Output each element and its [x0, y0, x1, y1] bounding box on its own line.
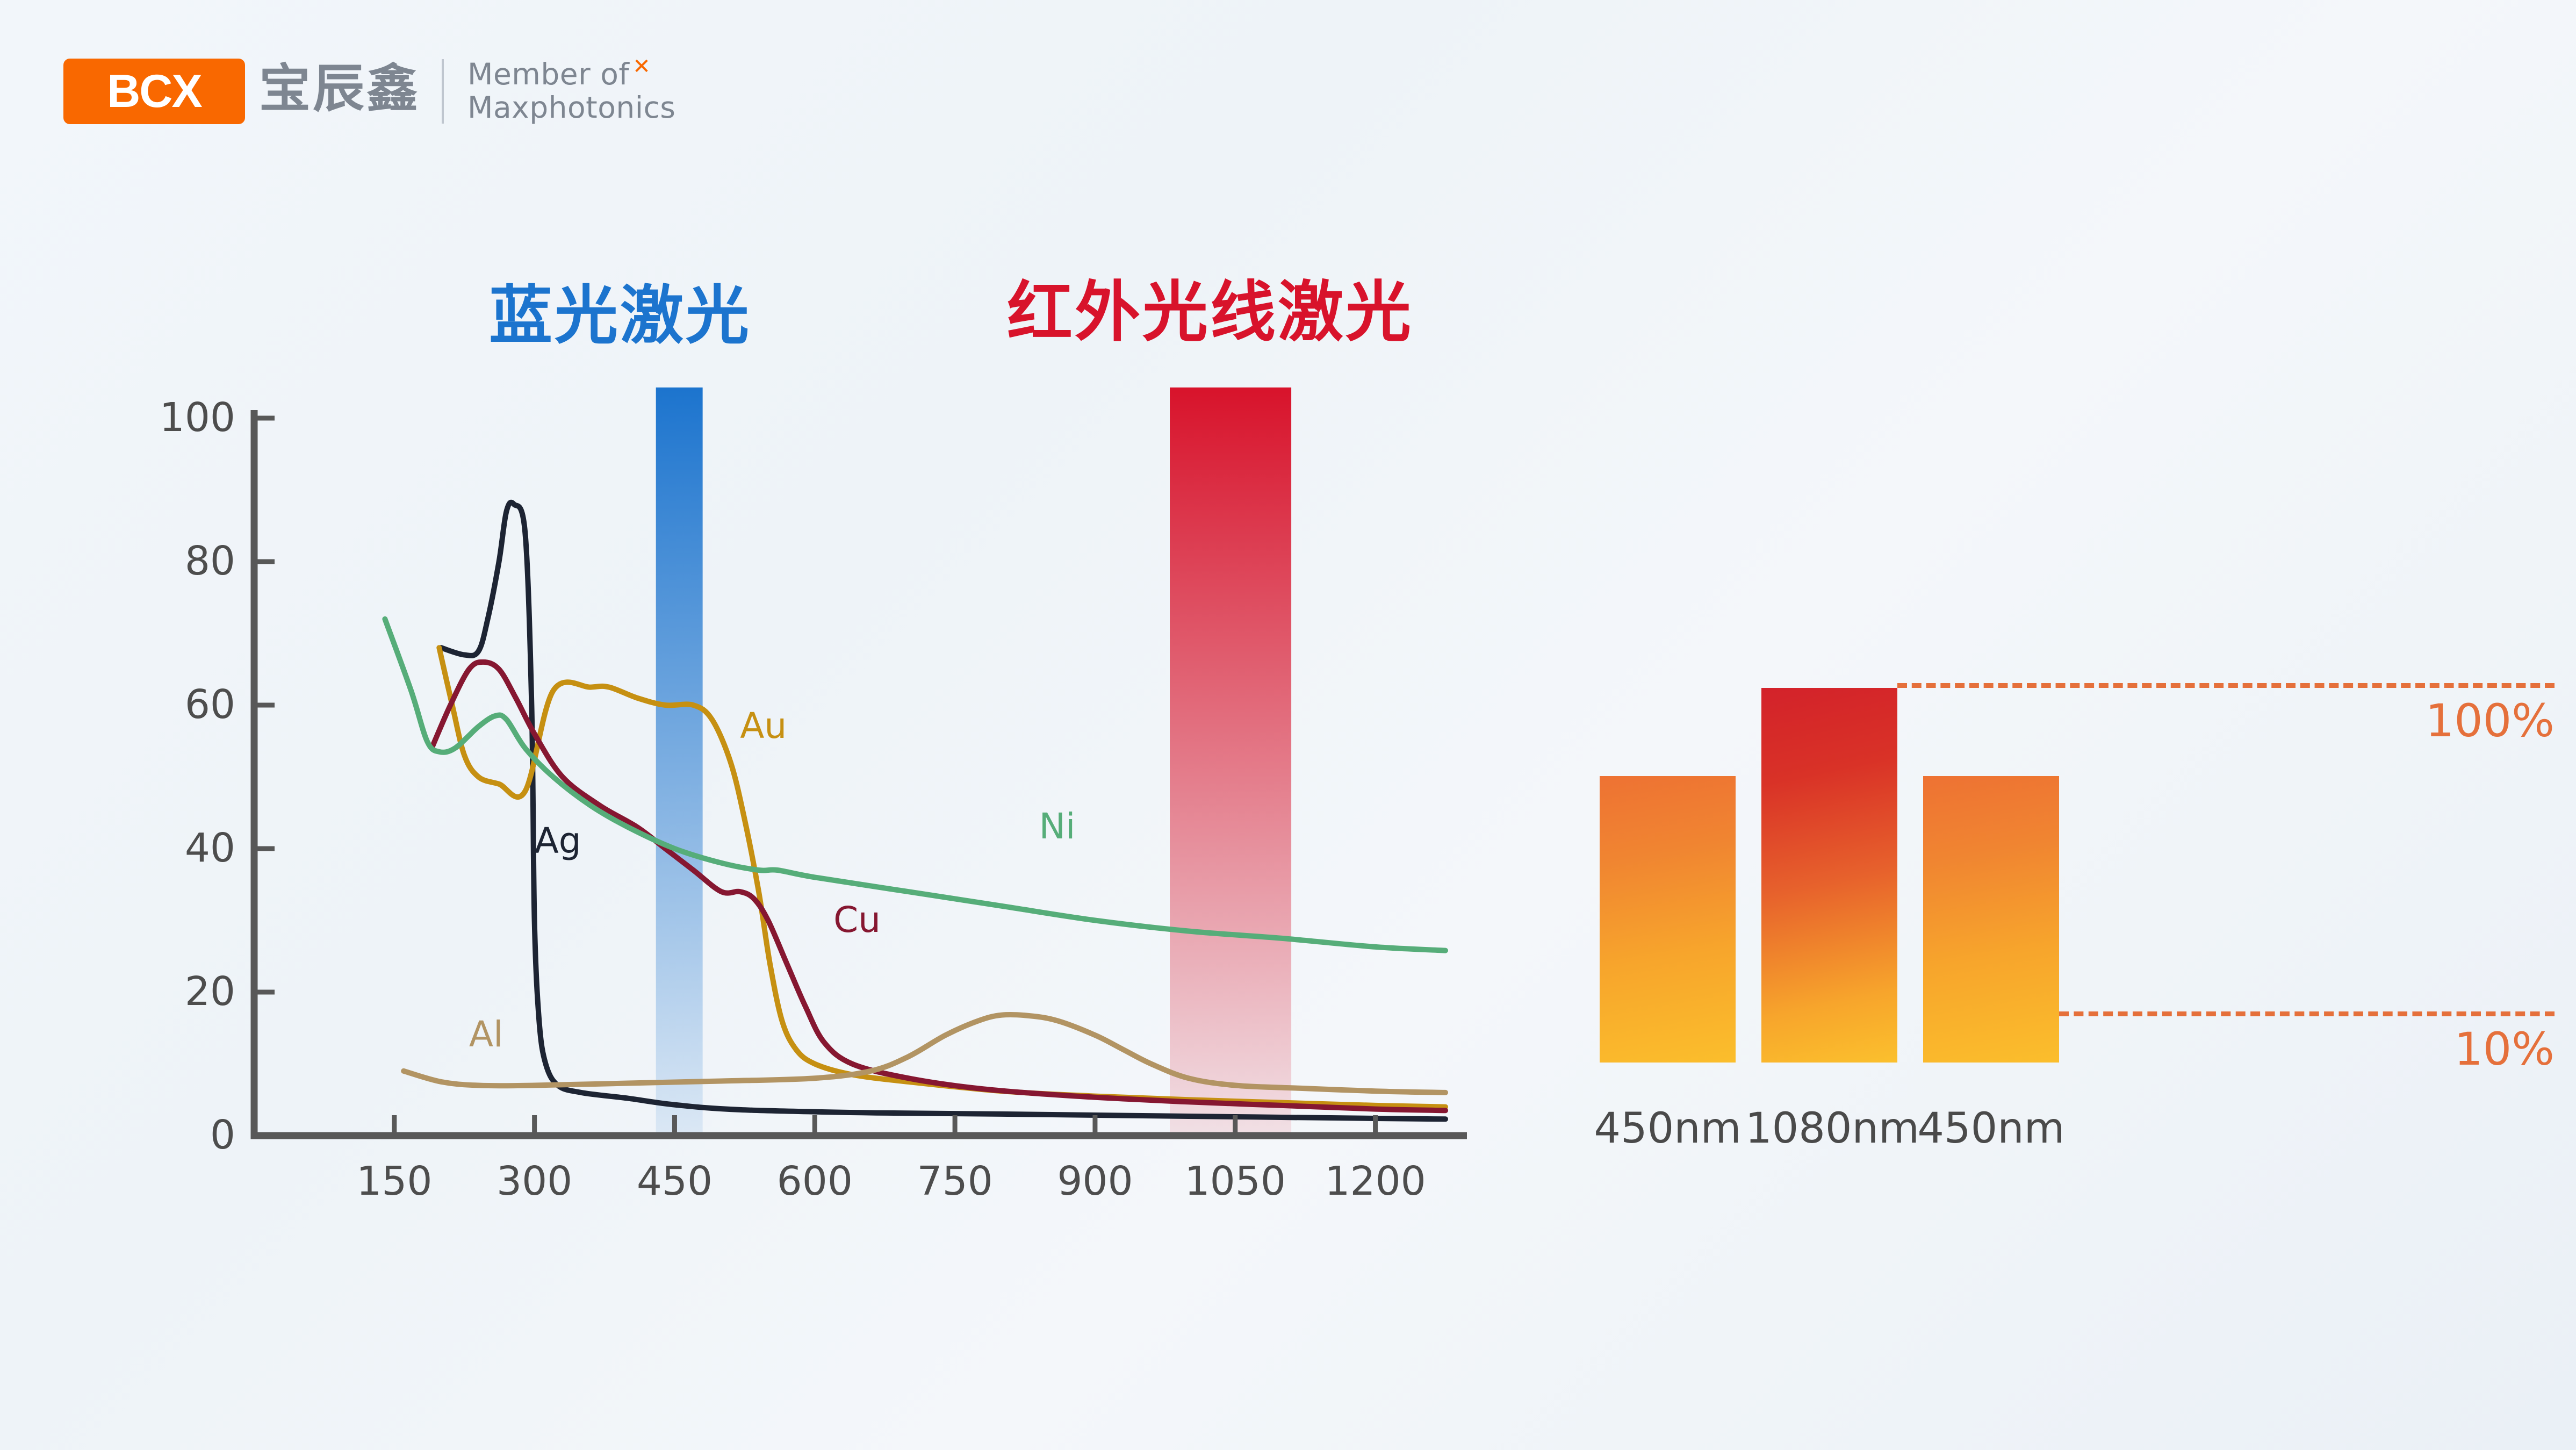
- reference-line-100pct: [1897, 683, 2555, 688]
- x-tick-label: 900: [1036, 1158, 1154, 1204]
- reference-line-10pct: [2059, 1011, 2555, 1016]
- absorption-line-chart: 020406080100 15030045060075090010501200 …: [0, 0, 1558, 1236]
- bar-label-1: 1080nm: [1745, 1104, 1913, 1153]
- bar-450nm[interactable]: [1600, 776, 1736, 1063]
- x-tick-label: 1050: [1176, 1158, 1294, 1204]
- bar-1080nm[interactable]: [1761, 688, 1897, 1063]
- y-tick-label: 20: [139, 968, 235, 1015]
- line-chart-svg: [0, 0, 1558, 1236]
- x-tick-label: 750: [896, 1158, 1014, 1204]
- series-line-ag: [441, 503, 1445, 1119]
- series-label-ni: Ni: [1039, 806, 1076, 847]
- x-tick-label: 300: [476, 1158, 594, 1204]
- bar-label-0: 450nm: [1584, 1104, 1752, 1153]
- reference-label-100pct: 100%: [2426, 694, 2555, 747]
- series-label-al: Al: [469, 1014, 503, 1055]
- ir-laser-band: [1170, 387, 1291, 1136]
- y-tick-label: 0: [139, 1112, 235, 1158]
- x-tick-label: 450: [615, 1158, 733, 1204]
- blue-laser-band: [656, 387, 703, 1136]
- y-tick-label: 100: [139, 394, 235, 441]
- bar-label-2: 450nm: [1907, 1104, 2075, 1153]
- slide-root: BCX 宝辰鑫 Member of✕ Maxphotonics 蓝光激光 红外光…: [0, 0, 2576, 1450]
- y-tick-label: 40: [139, 825, 235, 871]
- y-tick-label: 80: [139, 538, 235, 584]
- absorption-bar-chart: 450nm1080nm450nm100%10%: [1558, 484, 2576, 1236]
- x-tick-label: 600: [755, 1158, 874, 1204]
- series-label-cu: Cu: [833, 899, 881, 941]
- reference-label-10pct: 10%: [2454, 1023, 2555, 1075]
- series-label-au: Au: [740, 705, 787, 746]
- x-tick-label: 150: [335, 1158, 454, 1204]
- series-line-cu: [431, 662, 1445, 1110]
- y-tick-label: 60: [139, 681, 235, 728]
- bar-450nm[interactable]: [1923, 776, 2059, 1063]
- x-tick-label: 1200: [1316, 1158, 1435, 1204]
- series-label-ag: Ag: [535, 820, 581, 862]
